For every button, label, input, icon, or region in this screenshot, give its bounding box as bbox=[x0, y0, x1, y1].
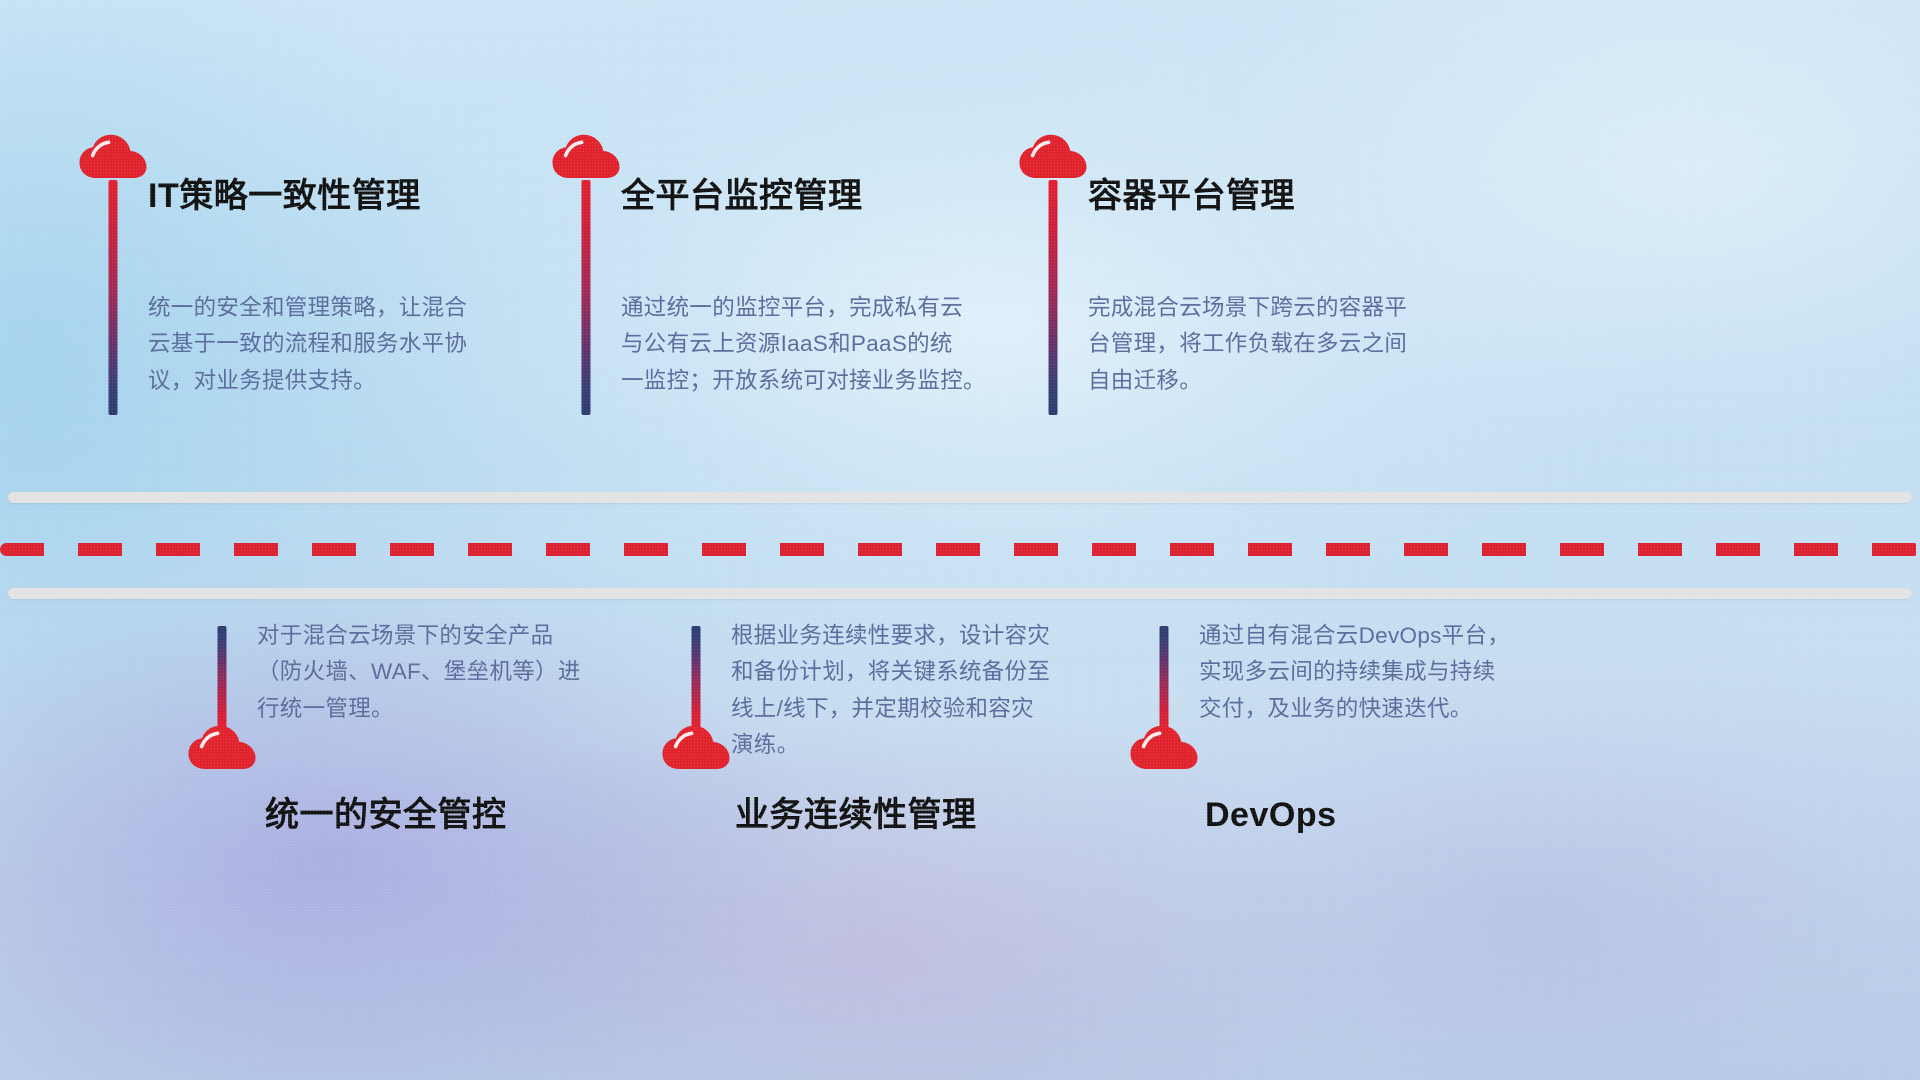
cloud-pin-icon bbox=[1129, 725, 1199, 773]
card-body: 通过自有混合云DevOps平台， 实现多云间的持续集成与持续 交付，及业务的快速… bbox=[1199, 618, 1510, 727]
infographic-canvas: IT策略一致性管理 统一的安全和管理策略，让混合 云基于一致的流程和服务水平协 … bbox=[0, 0, 1920, 1080]
pin-stem-bottom-1 bbox=[218, 626, 227, 728]
card-body: 完成混合云场景下跨云的容器平 台管理，将工作负载在多云之间 自由迁移。 bbox=[1088, 290, 1407, 399]
bottom-rail bbox=[8, 588, 1912, 599]
cloud-pin-top-1 bbox=[78, 134, 148, 182]
card-title: 业务连续性管理 bbox=[735, 795, 1050, 836]
cloud-pin-icon bbox=[187, 725, 257, 773]
card-title: IT策略一致性管理 bbox=[148, 176, 467, 217]
cloud-pin-icon bbox=[1018, 134, 1088, 182]
card-body: 对于混合云场景下的安全产品 （防火墙、WAF、堡垒机等）进 行统一管理。 bbox=[257, 618, 581, 727]
card-top-3: 容器平台管理 完成混合云场景下跨云的容器平 台管理，将工作负载在多云之间 自由迁… bbox=[1088, 176, 1407, 399]
pin-stem-bottom-3 bbox=[1160, 626, 1169, 728]
card-title: 全平台监控管理 bbox=[621, 176, 986, 217]
pin-stem-top-2 bbox=[582, 180, 591, 415]
background-grain-overlay bbox=[0, 0, 1920, 1080]
card-bottom-1: 对于混合云场景下的安全产品 （防火墙、WAF、堡垒机等）进 行统一管理。 统一的… bbox=[257, 618, 581, 836]
cloud-pin-top-3 bbox=[1018, 134, 1088, 182]
cloud-pin-icon bbox=[551, 134, 621, 182]
card-title: 统一的安全管控 bbox=[265, 795, 581, 836]
cloud-pin-icon bbox=[661, 725, 731, 773]
card-bottom-2: 根据业务连续性要求，设计容灾 和备份计划，将关键系统备份至 线上/线下，并定期校… bbox=[731, 618, 1050, 836]
cloud-pin-top-2 bbox=[551, 134, 621, 182]
pin-stem-top-3 bbox=[1049, 180, 1058, 415]
card-title: DevOps bbox=[1205, 795, 1510, 836]
pin-stem-top-1 bbox=[109, 180, 118, 415]
pin-stem-bottom-2 bbox=[692, 626, 701, 728]
card-body: 根据业务连续性要求，设计容灾 和备份计划，将关键系统备份至 线上/线下，并定期校… bbox=[731, 618, 1050, 764]
red-dashed-road-line bbox=[0, 543, 1920, 556]
card-top-2: 全平台监控管理 通过统一的监控平台，完成私有云 与公有云上资源IaaS和PaaS… bbox=[621, 176, 986, 399]
card-title: 容器平台管理 bbox=[1088, 176, 1407, 217]
card-body: 通过统一的监控平台，完成私有云 与公有云上资源IaaS和PaaS的统 一监控；开… bbox=[621, 290, 986, 399]
cloud-pin-icon bbox=[78, 134, 148, 182]
card-body: 统一的安全和管理策略，让混合 云基于一致的流程和服务水平协 议，对业务提供支持。 bbox=[148, 290, 467, 399]
card-bottom-3: 通过自有混合云DevOps平台， 实现多云间的持续集成与持续 交付，及业务的快速… bbox=[1199, 618, 1510, 836]
top-rail bbox=[8, 492, 1912, 503]
card-top-1: IT策略一致性管理 统一的安全和管理策略，让混合 云基于一致的流程和服务水平协 … bbox=[148, 176, 467, 399]
